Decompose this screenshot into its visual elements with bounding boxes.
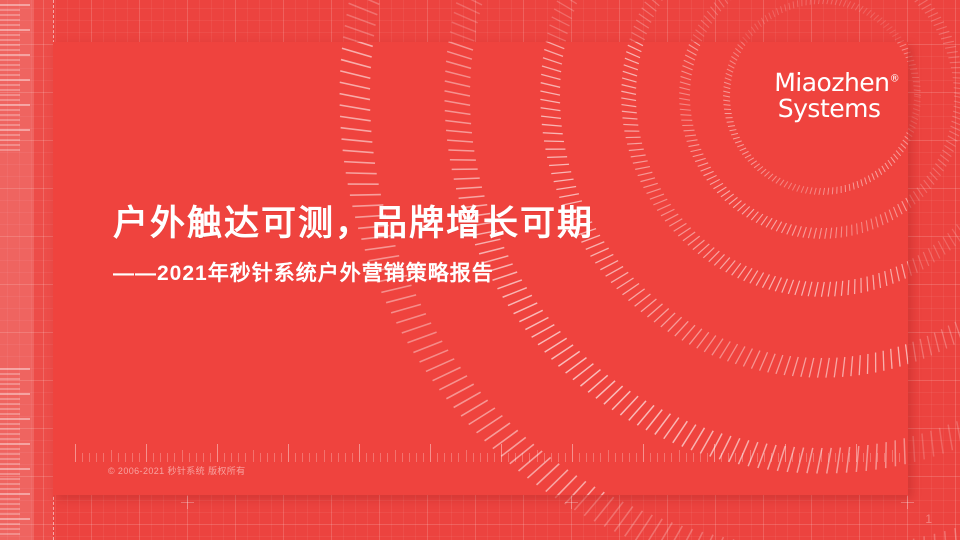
page-number: 1	[925, 512, 932, 526]
ruler-tick	[529, 453, 530, 462]
ruler-tick	[324, 450, 325, 462]
ruler-tick	[799, 453, 800, 462]
ruler-tick	[679, 450, 680, 462]
ruler-tick	[153, 453, 154, 462]
ruler-tick	[899, 453, 900, 462]
ruler-tick	[884, 453, 885, 462]
ruler-tick	[565, 453, 566, 462]
ruler-tick	[139, 453, 140, 462]
slide-panel: 户外触达可测，品牌增长可期 ——2021年秒针系统户外营销策略报告 Miaozh…	[53, 42, 908, 495]
logo-line-two: Systems	[778, 96, 899, 122]
ruler-tick	[792, 453, 793, 462]
logo-brand-text: Miaozhen	[774, 68, 890, 97]
ruler-tick	[89, 453, 90, 462]
ruler-tick	[771, 453, 772, 462]
ruler-tick	[835, 453, 836, 462]
ruler-tick	[622, 453, 623, 462]
ruler-tick	[544, 453, 545, 462]
ruler-tick	[579, 453, 580, 462]
ruler-tick	[593, 453, 594, 462]
ruler-tick	[650, 453, 651, 462]
ruler-tick	[437, 453, 438, 462]
ruler-band	[0, 0, 34, 150]
ruler-tick	[458, 453, 459, 462]
ruler-tick	[671, 453, 672, 462]
ruler-tick	[103, 453, 104, 462]
ruler-tick	[586, 453, 587, 462]
page-title: 户外触达可测，品牌增长可期	[113, 195, 594, 246]
ruler-tick	[387, 453, 388, 462]
ruler-tick	[189, 453, 190, 462]
ruler-tick	[742, 453, 743, 462]
ruler-band	[0, 365, 34, 540]
ruler-tick	[466, 450, 467, 462]
ruler-tick	[451, 453, 452, 462]
ruler-tick	[785, 444, 786, 462]
ruler-tick	[615, 453, 616, 462]
ruler-tick	[643, 444, 644, 462]
ruler-tick-group	[0, 368, 34, 538]
ruler-tick	[473, 453, 474, 462]
ruler-tick	[714, 444, 715, 462]
ruler-tick	[877, 453, 878, 462]
ruler-tick	[288, 444, 289, 462]
ruler-tick	[721, 453, 722, 462]
ruler-tick	[125, 453, 126, 462]
ruler-tick	[331, 453, 332, 462]
ruler-tick	[118, 453, 119, 462]
ruler-tick	[224, 453, 225, 462]
ruler-tick	[82, 453, 83, 462]
miaozhen-logo: Miaozhen® Systems	[774, 70, 900, 121]
ruler-tick	[402, 453, 403, 462]
page-subtitle: ——2021年秒针系统户外营销策略报告	[113, 257, 494, 287]
ruler-tick	[600, 453, 601, 462]
ruler-tick	[409, 453, 410, 462]
ruler-tick	[757, 453, 758, 462]
ruler-tick	[664, 453, 665, 462]
ruler-tick	[693, 453, 694, 462]
ruler-tick	[423, 453, 424, 462]
ruler-tick	[295, 453, 296, 462]
ruler-tick	[338, 453, 339, 462]
left-margin-tint	[0, 0, 53, 540]
ruler-tick	[253, 450, 254, 462]
ruler-tick	[813, 453, 814, 462]
ruler-tick	[281, 453, 282, 462]
ruler-tick	[182, 450, 183, 462]
ruler-tick	[522, 453, 523, 462]
trademark-icon: ®	[890, 74, 900, 85]
ruler-tick	[849, 453, 850, 462]
ruler-tick	[316, 453, 317, 462]
ruler-tick	[636, 453, 637, 462]
ruler-tick	[707, 453, 708, 462]
ruler-tick	[629, 453, 630, 462]
ruler-tick	[551, 453, 552, 462]
ruler-tick	[494, 453, 495, 462]
ruler-tick	[146, 444, 147, 462]
ruler-tick	[686, 453, 687, 462]
ruler-tick	[487, 453, 488, 462]
ruler-tick-group	[0, 4, 34, 150]
ruler-band	[0, 150, 34, 365]
ruler-tick	[352, 453, 353, 462]
ruler-tick	[892, 450, 893, 462]
ruler-tick	[380, 453, 381, 462]
ruler-tick	[395, 450, 396, 462]
ruler-tick	[856, 444, 857, 462]
ruler-tick	[778, 453, 779, 462]
ruler-tick	[700, 453, 701, 462]
ruler-tick	[111, 450, 112, 462]
ruler-tick	[309, 453, 310, 462]
registration-mark	[181, 496, 194, 509]
ruler-tick	[806, 453, 807, 462]
ruler-tick	[245, 453, 246, 462]
ruler-tick	[196, 453, 197, 462]
ruler-tick	[828, 453, 829, 462]
ruler-tick	[508, 453, 509, 462]
ruler-tick	[302, 453, 303, 462]
ruler-tick	[515, 453, 516, 462]
registration-mark	[901, 496, 914, 509]
ruler-tick	[735, 453, 736, 462]
ruler-tick	[260, 453, 261, 462]
title-slide: 户外触达可测，品牌增长可期 ——2021年秒针系统户外营销策略报告 Miaozh…	[0, 0, 960, 540]
ruler-tick	[842, 453, 843, 462]
ruler-tick	[501, 444, 502, 462]
ruler-tick	[821, 450, 822, 462]
ruler-tick	[537, 450, 538, 462]
ruler-tick	[728, 453, 729, 462]
ruler-tick	[160, 453, 161, 462]
ruler-tick	[444, 453, 445, 462]
ruler-tick	[366, 453, 367, 462]
ruler-tick	[217, 444, 218, 462]
ruler-tick	[416, 453, 417, 462]
ruler-tick	[359, 444, 360, 462]
ruler-tick	[238, 453, 239, 462]
ruler-tick	[210, 453, 211, 462]
ruler-tick	[870, 453, 871, 462]
ruler-tick	[174, 453, 175, 462]
ruler-tick	[132, 453, 133, 462]
ruler-tick	[203, 453, 204, 462]
ruler-tick	[750, 450, 751, 462]
ruler-tick	[480, 453, 481, 462]
ruler-tick	[373, 453, 374, 462]
registration-mark	[565, 496, 578, 509]
ruler-tick	[96, 453, 97, 462]
ruler-tick	[572, 444, 573, 462]
ruler-tick	[863, 453, 864, 462]
ruler-tick	[657, 453, 658, 462]
logo-line-one: Miaozhen®	[774, 70, 899, 96]
ruler-tick	[558, 453, 559, 462]
ruler-tick	[274, 453, 275, 462]
ruler-tick	[608, 450, 609, 462]
ruler-tick	[167, 453, 168, 462]
ruler-tick	[345, 453, 346, 462]
ruler-tick	[231, 453, 232, 462]
ruler-tick	[430, 444, 431, 462]
copyright-footer: © 2006-2021 秒针系统 版权所有	[108, 464, 246, 477]
ruler-tick	[267, 453, 268, 462]
ruler-tick	[75, 444, 76, 462]
bottom-horizontal-ruler	[53, 440, 908, 462]
ruler-tick	[764, 453, 765, 462]
